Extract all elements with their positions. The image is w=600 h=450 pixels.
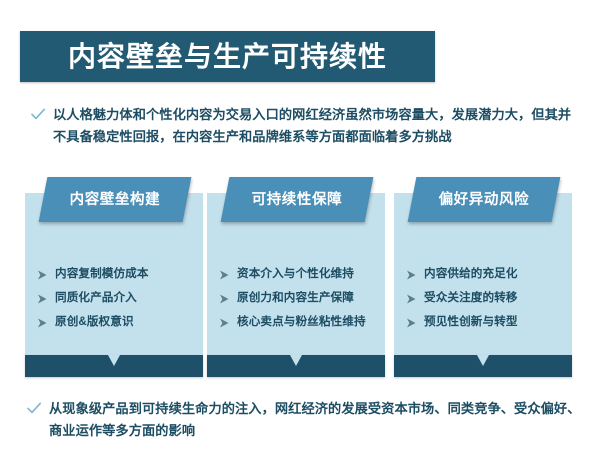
- card-content-barrier[interactable]: 内容复制模仿成本 同质化产品介入 原: [25, 177, 203, 377]
- check-icon: [30, 106, 46, 122]
- list-item[interactable]: 资本介入与个性化维持: [219, 267, 379, 282]
- arrow-bullet-icon: [406, 316, 417, 330]
- list-item-label: 原创力和内容生产保障: [237, 291, 354, 305]
- arrow-bullet-icon: [219, 268, 230, 282]
- notch-marker-icon: [108, 355, 120, 366]
- check-icon: [26, 400, 42, 416]
- arrow-bullet-icon: [406, 268, 417, 282]
- list-item-label: 预见性创新与转型: [424, 315, 518, 329]
- list-item[interactable]: 原创力和内容生产保障: [219, 291, 379, 306]
- list-item-label: 核心卖点与粉丝粘性维持: [237, 315, 366, 329]
- card-footer-bar: [25, 355, 203, 377]
- card-header-label: 可持续性保障: [225, 192, 369, 207]
- list-item[interactable]: 预见性创新与转型: [406, 315, 566, 330]
- card-bullet-list: 内容复制模仿成本 同质化产品介入 原: [37, 267, 197, 339]
- slide-title-banner: 内容壁垒与生产可持续性: [20, 31, 435, 82]
- list-item[interactable]: 受众关注度的转移: [406, 291, 566, 306]
- card-header-banner: 偏好异动风险: [408, 177, 561, 222]
- conclusion-paragraph: 从现象级产品到可持续生命力的注入，网红经济的发展受资本市场、同类竞争、受众偏好、…: [26, 398, 582, 442]
- card-header-banner: 内容壁垒构建: [39, 177, 192, 222]
- card-preference-volatility-risk[interactable]: 内容供给的充足化 受众关注度的转移: [394, 177, 572, 377]
- card-header-label: 偏好异动风险: [412, 192, 556, 207]
- arrow-bullet-icon: [406, 292, 417, 306]
- list-item-label: 同质化产品介入: [55, 291, 137, 305]
- notch-marker-icon: [290, 355, 302, 366]
- card-footer-bar: [207, 355, 385, 377]
- intro-paragraph-text: 以人格魅力体和个性化内容为交易入口的网红经济虽然市场容量大，发展潜力大，但其并不…: [53, 104, 578, 148]
- card-bullet-list: 内容供给的充足化 受众关注度的转移: [406, 267, 566, 339]
- arrow-bullet-icon: [219, 316, 230, 330]
- conclusion-paragraph-text: 从现象级产品到可持续生命力的注入，网红经济的发展受资本市场、同类竞争、受众偏好、…: [49, 398, 582, 442]
- arrow-bullet-icon: [37, 292, 48, 306]
- list-item-label: 受众关注度的转移: [424, 291, 518, 305]
- list-item-label: 资本介入与个性化维持: [237, 267, 354, 281]
- list-item-label: 内容供给的充足化: [424, 267, 518, 281]
- list-item-label: 原创&版权意识: [55, 315, 134, 329]
- arrow-bullet-icon: [37, 316, 48, 330]
- list-item-label: 内容复制模仿成本: [55, 267, 149, 281]
- slide-canvas: 内容壁垒与生产可持续性 以人格魅力体和个性化内容为交易入口的网红经济虽然市场容量…: [0, 0, 600, 450]
- page-title: 内容壁垒与生产可持续性: [20, 43, 435, 71]
- arrow-bullet-icon: [37, 268, 48, 282]
- card-sustainability-guarantee[interactable]: 资本介入与个性化维持 原创力和内容生产保障: [207, 177, 385, 377]
- notch-marker-icon: [477, 355, 489, 366]
- list-item[interactable]: 核心卖点与粉丝粘性维持: [219, 315, 379, 330]
- intro-paragraph: 以人格魅力体和个性化内容为交易入口的网红经济虽然市场容量大，发展潜力大，但其并不…: [30, 104, 578, 148]
- list-item[interactable]: 内容供给的充足化: [406, 267, 566, 282]
- card-footer-bar: [394, 355, 572, 377]
- card-bullet-list: 资本介入与个性化维持 原创力和内容生产保障: [219, 267, 379, 339]
- arrow-bullet-icon: [219, 292, 230, 306]
- list-item[interactable]: 内容复制模仿成本: [37, 267, 197, 282]
- list-item[interactable]: 同质化产品介入: [37, 291, 197, 306]
- card-header-label: 内容壁垒构建: [43, 192, 187, 207]
- card-header-banner: 可持续性保障: [221, 177, 374, 222]
- list-item[interactable]: 原创&版权意识: [37, 315, 197, 330]
